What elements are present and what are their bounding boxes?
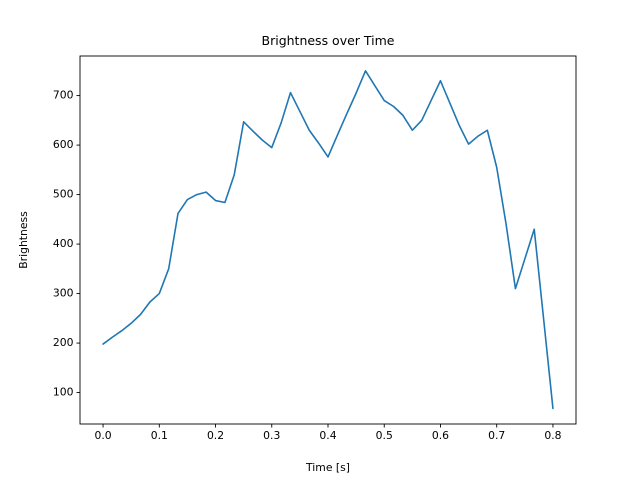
x-tick-label: 0.7 bbox=[488, 429, 505, 442]
y-tick-label: 200 bbox=[53, 336, 74, 349]
y-axis-label: Brightness bbox=[17, 211, 30, 269]
x-tick-label: 0.2 bbox=[207, 429, 224, 442]
x-tick-label: 0.4 bbox=[319, 429, 336, 442]
y-tick-label: 300 bbox=[53, 287, 74, 300]
y-tick-label: 600 bbox=[53, 138, 74, 151]
x-tick-label: 0.0 bbox=[94, 429, 111, 442]
matplotlib-figure: Brightness over Time 0.00.10.20.30.40.50… bbox=[0, 0, 640, 480]
chart-canvas: Brightness over Time 0.00.10.20.30.40.50… bbox=[0, 0, 640, 480]
y-tick-label: 700 bbox=[53, 89, 74, 102]
y-tick-label: 100 bbox=[53, 386, 74, 399]
x-tick-label: 0.3 bbox=[263, 429, 280, 442]
x-axis-label: Time [s] bbox=[305, 461, 350, 474]
x-tick-label: 0.1 bbox=[151, 429, 168, 442]
x-tick-label: 0.5 bbox=[376, 429, 393, 442]
y-tick-label: 500 bbox=[53, 188, 74, 201]
x-tick-label: 0.6 bbox=[432, 429, 449, 442]
plot-area-background bbox=[80, 56, 576, 424]
chart-title: Brightness over Time bbox=[262, 33, 395, 48]
x-tick-label: 0.8 bbox=[544, 429, 561, 442]
y-tick-label: 400 bbox=[53, 237, 74, 250]
